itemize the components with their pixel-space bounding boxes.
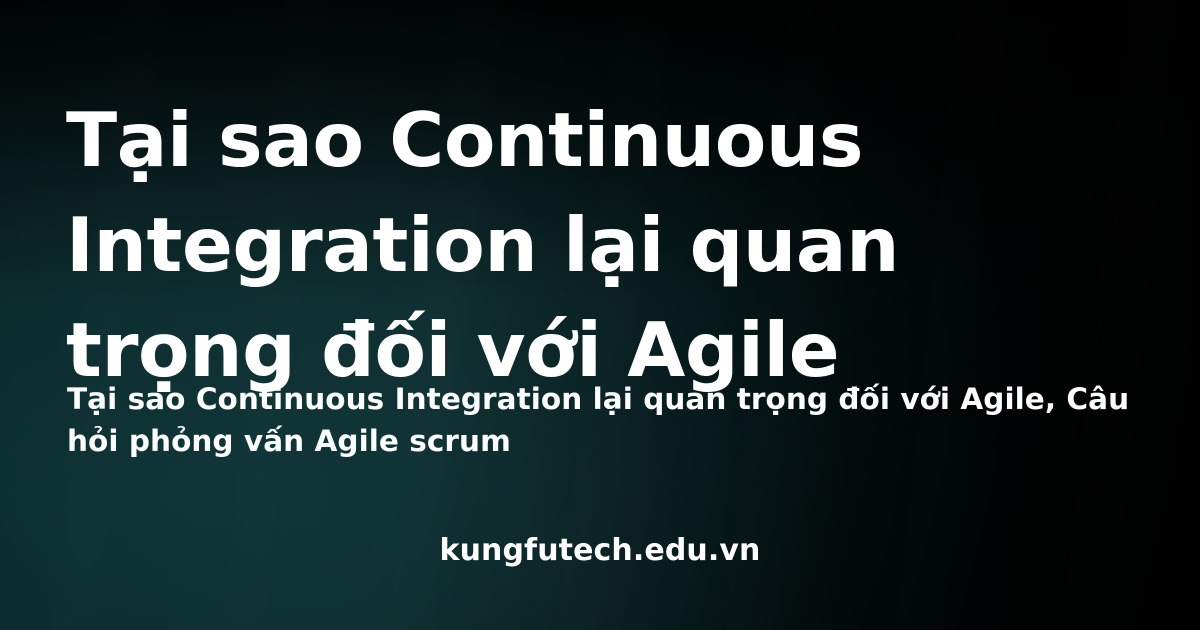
site-domain-label: kungfutech.edu.vn [0,533,1200,568]
card-headline: Tại sao Continuous Integration lại quan … [66,88,1136,403]
share-card: Tại sao Continuous Integration lại quan … [0,0,1200,630]
card-subheadline: Tại sao Continuous Integration lại quan … [67,378,1131,462]
card-content: Tại sao Continuous Integration lại quan … [0,0,1200,630]
